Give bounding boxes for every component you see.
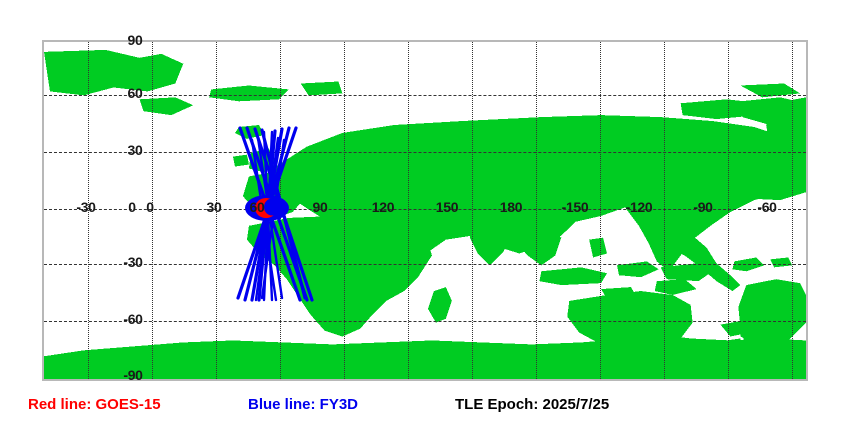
world-map-landmasses — [44, 42, 806, 379]
lat-tick-90: 90 — [128, 32, 143, 48]
lat-tick--60: -60 — [123, 311, 142, 327]
legend-red-line-goes15: Red line: GOES-15 — [28, 396, 161, 413]
lat-tick-30: 30 — [128, 142, 143, 158]
lat-tick-0: 0 — [128, 199, 136, 215]
lon-tick-150: 150 — [436, 199, 458, 215]
legend-footer: Red line: GOES-15 Blue line: FY3D TLE Ep… — [0, 392, 850, 425]
lon-tick-120: 120 — [372, 199, 394, 215]
lat-tick-60: 60 — [128, 85, 143, 101]
lon-tick-180: 180 — [500, 199, 522, 215]
lon-tick-60: 60 — [250, 199, 265, 215]
lon-tick--150: -150 — [562, 199, 589, 215]
legend-tle-epoch: TLE Epoch: 2025/7/25 — [455, 396, 609, 413]
lat-tick--30: -30 — [123, 254, 142, 270]
lon-tick--30: -30 — [76, 199, 95, 215]
lon-tick--120: -120 — [626, 199, 653, 215]
lon-tick--90: -90 — [693, 199, 712, 215]
lon-tick-30: 30 — [207, 199, 222, 215]
lon-tick-90: 90 — [313, 199, 328, 215]
legend-blue-line-fy3d: Blue line: FY3D — [248, 396, 358, 413]
lon-tick-0: 0 — [146, 199, 154, 215]
lon-tick--60: -60 — [757, 199, 776, 215]
satellite-ground-track-map: -30 0 30 60 90 120 150 180 -150 -120 -90… — [0, 0, 850, 425]
lat-tick--90: -90 — [123, 367, 142, 383]
